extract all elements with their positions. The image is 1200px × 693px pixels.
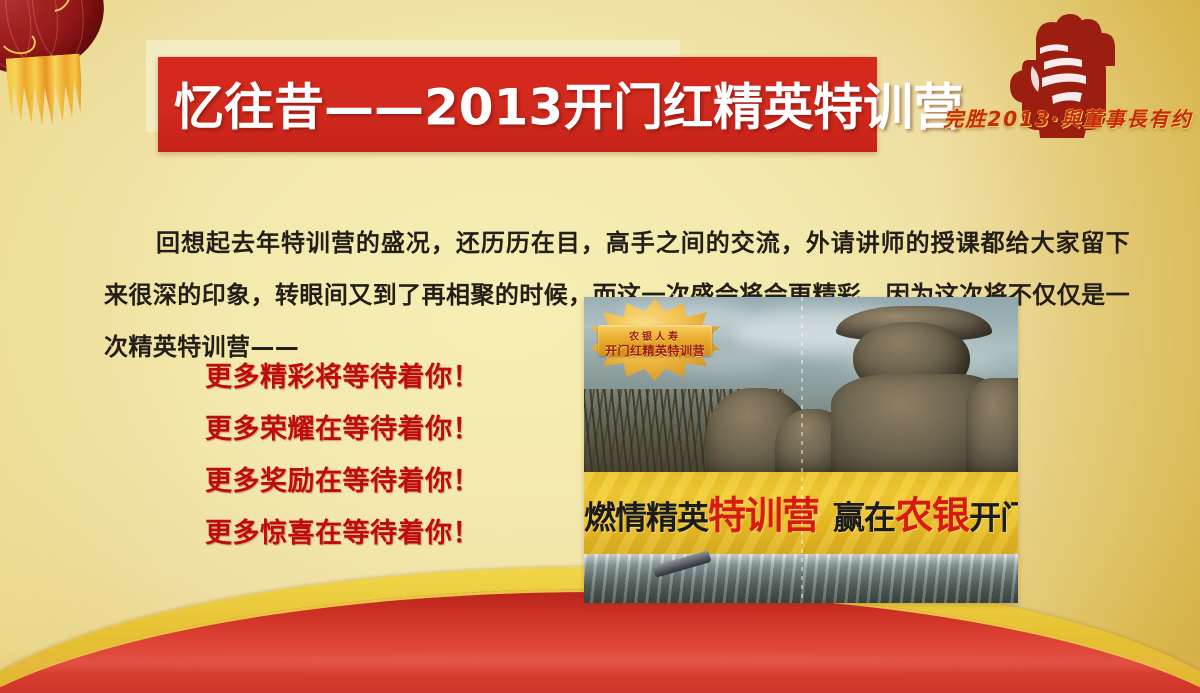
banner-seg-3: 赢在 [833, 498, 895, 536]
lantern-tassel-icon [6, 54, 85, 129]
starburst-badge: 农银人寿 开门红精英特训营 [596, 311, 714, 369]
banner-seg-5: 开门红 [969, 498, 1018, 536]
page-title: 忆往昔——2013开门红精英特训营 [174, 67, 963, 139]
training-camp-photo: 农银人寿 开门红精英特训营 燃情精英特训营赢在农银开门红 [584, 297, 1018, 603]
list-item: 更多精彩将等待着你！ [205, 352, 565, 404]
wave-red-gold-edge [0, 589, 1200, 693]
title-bar: 忆往昔——2013开门红精英特训营 [158, 57, 877, 152]
banner-seg-1: 燃情精英 [584, 498, 708, 536]
campaign-logo: 完胜2013·與董事長有约 [980, 8, 1156, 140]
rifle-barrel-shape [653, 550, 712, 578]
list-item: 更多惊喜在等待着你！ [205, 508, 565, 560]
list-item: 更多奖励在等待着你！ [205, 456, 565, 508]
badge-line-1: 农银人寿 [598, 328, 712, 343]
list-item: 更多荣耀在等待着你！ [205, 404, 565, 456]
badge-line-2: 开门红精英特训营 [598, 342, 712, 359]
highlight-list: 更多精彩将等待着你！ 更多荣耀在等待着你！ 更多奖励在等待着你！ 更多惊喜在等待… [205, 352, 565, 560]
lantern-decoration [0, 0, 124, 129]
badge-plate: 农银人寿 开门红精英特训营 [598, 325, 712, 356]
soldier-figure [966, 378, 1018, 480]
logo-text: 完胜2013·與董事長有约 [892, 103, 1200, 132]
slide-canvas: 忆往昔——2013开门红精英特训营 完胜2013·與 [0, 0, 1200, 693]
banner-seg-4-highlight: 农银 [895, 493, 969, 537]
photo-panel-seam [801, 297, 803, 603]
